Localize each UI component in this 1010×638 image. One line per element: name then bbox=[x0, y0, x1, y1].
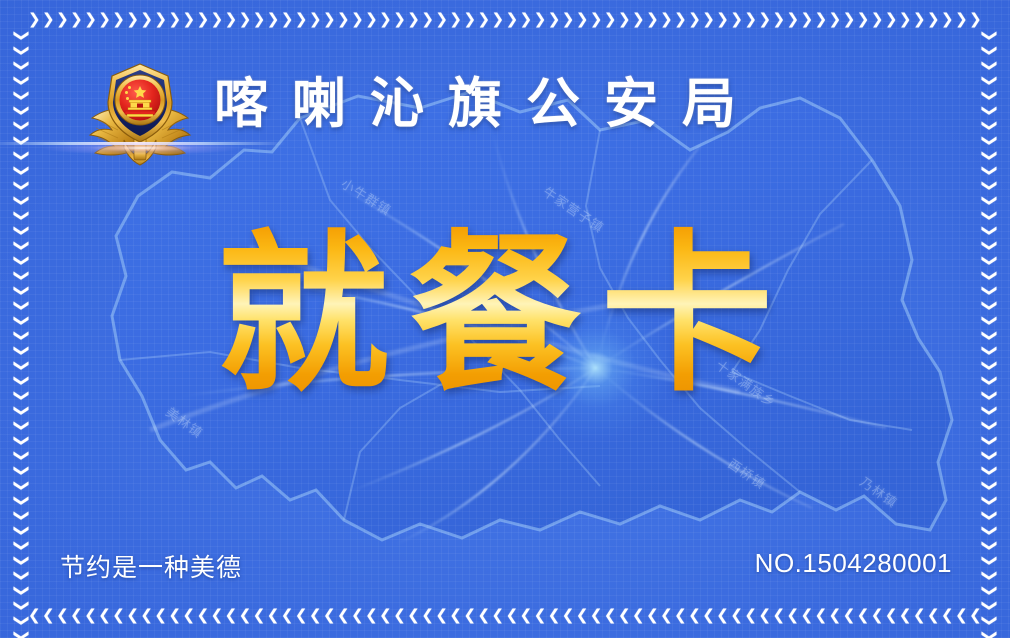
border-chevron-icon: ❯ bbox=[13, 104, 28, 117]
border-chevron-icon: ❯ bbox=[13, 194, 28, 207]
border-chevron-icon: ❮ bbox=[899, 608, 912, 623]
border-chevron-icon: ❯ bbox=[913, 12, 926, 27]
border-chevron-icon: ❮ bbox=[843, 608, 856, 623]
border-chevron-icon: ❮ bbox=[716, 608, 729, 623]
border-chevron-icon: ❯ bbox=[981, 464, 996, 477]
border-chevron-icon: ❯ bbox=[267, 12, 280, 27]
border-chevron-icon: ❯ bbox=[981, 584, 996, 597]
border-chevron-icon: ❯ bbox=[927, 12, 940, 27]
border-chevron-icon: ❯ bbox=[13, 59, 28, 72]
border-chevron-icon: ❮ bbox=[829, 608, 842, 623]
border-chevron-icon: ❯ bbox=[829, 12, 842, 27]
border-chevron-icon: ❯ bbox=[407, 12, 420, 27]
border-chevron-icon: ❯ bbox=[13, 119, 28, 132]
border-chevron-icon: ❯ bbox=[506, 12, 519, 27]
border-chevron-icon: ❮ bbox=[492, 608, 505, 623]
border-chevron-icon: ❮ bbox=[239, 608, 252, 623]
border-chevron-icon: ❯ bbox=[981, 59, 996, 72]
police-badge-icon bbox=[84, 56, 196, 168]
border-chevron-icon: ❯ bbox=[13, 614, 28, 627]
footer-slogan: 节约是一种美德 bbox=[60, 548, 242, 584]
border-chevron-icon: ❯ bbox=[590, 12, 603, 27]
border-chevron-icon: ❯ bbox=[239, 12, 252, 27]
border-chevron-icon: ❮ bbox=[281, 608, 294, 623]
border-chevron-icon: ❮ bbox=[478, 608, 491, 623]
border-chevron-icon: ❮ bbox=[758, 608, 771, 623]
border-chevron-icon: ❮ bbox=[562, 608, 575, 623]
border-chevron-icon: ❯ bbox=[981, 554, 996, 567]
border-chevron-icon: ❯ bbox=[13, 419, 28, 432]
border-chevron-icon: ❯ bbox=[42, 12, 55, 27]
border-chevron-icon: ❯ bbox=[13, 179, 28, 192]
border-chevron-icon: ❮ bbox=[576, 608, 589, 623]
border-chevron-icon: ❯ bbox=[281, 12, 294, 27]
border-chevron-icon: ❯ bbox=[435, 12, 448, 27]
border-chevron-icon: ❯ bbox=[463, 12, 476, 27]
border-chevron-icon: ❯ bbox=[981, 29, 996, 42]
border-chevron-icon: ❮ bbox=[56, 608, 69, 623]
border-chevron-icon: ❯ bbox=[716, 12, 729, 27]
border-chevron-icon: ❯ bbox=[13, 494, 28, 507]
border-chevron-icon: ❮ bbox=[295, 608, 308, 623]
border-chevron-icon: ❯ bbox=[981, 419, 996, 432]
border-chevron-icon: ❯ bbox=[857, 12, 870, 27]
border-chevron-icon: ❮ bbox=[112, 608, 125, 623]
border-chevron-icon: ❯ bbox=[955, 12, 968, 27]
border-chevron-icon: ❮ bbox=[688, 608, 701, 623]
border-chevron-icon: ❯ bbox=[981, 164, 996, 177]
border-chevron-icon: ❯ bbox=[702, 12, 715, 27]
border-chevron-icon: ❮ bbox=[927, 608, 940, 623]
border-chevron-icon: ❯ bbox=[211, 12, 224, 27]
border-chevron-icon: ❯ bbox=[744, 12, 757, 27]
border-chevron-icon: ❯ bbox=[981, 524, 996, 537]
border-chevron-icon: ❯ bbox=[28, 12, 41, 27]
border-chevron-icon: ❯ bbox=[13, 134, 28, 147]
border-chevron-icon: ❮ bbox=[253, 608, 266, 623]
border-chevron-icon: ❯ bbox=[197, 12, 210, 27]
border-chevron-icon: ❮ bbox=[323, 608, 336, 623]
border-chevron-icon: ❯ bbox=[981, 614, 996, 627]
border-chevron-icon: ❯ bbox=[562, 12, 575, 27]
border-chevron-icon: ❯ bbox=[981, 194, 996, 207]
border-chevron-icon: ❯ bbox=[295, 12, 308, 27]
border-chevron-icon: ❯ bbox=[871, 12, 884, 27]
border-chevron-icon: ❯ bbox=[13, 434, 28, 447]
border-chevron-icon: ❯ bbox=[478, 12, 491, 27]
border-chevron-icon: ❮ bbox=[801, 608, 814, 623]
border-chevron-icon: ❮ bbox=[702, 608, 715, 623]
border-chevron-icon: ❯ bbox=[981, 494, 996, 507]
border-chevron-icon: ❮ bbox=[632, 608, 645, 623]
border-chevron-icon: ❮ bbox=[435, 608, 448, 623]
border-chevron-icon: ❯ bbox=[660, 12, 673, 27]
page-title: 喀喇沁旗公安局 bbox=[214, 74, 760, 134]
border-chevron-icon: ❯ bbox=[941, 12, 954, 27]
border-chevron-icon: ❮ bbox=[168, 608, 181, 623]
border-chevron-icon: ❮ bbox=[197, 608, 210, 623]
border-chevron-icon: ❯ bbox=[365, 12, 378, 27]
border-chevron-icon: ❯ bbox=[981, 44, 996, 57]
border-chevron-icon: ❯ bbox=[13, 569, 28, 582]
border-chevron-icon: ❮ bbox=[98, 608, 111, 623]
card-type-title: 就餐卡 bbox=[0, 222, 1010, 408]
dining-card: 小牛群镇 牛家营子镇 十家满族乡 美林镇 西桥镇 乃林镇 ❯❯❯❯❯❯❯❯❯❯❯… bbox=[0, 0, 1010, 638]
border-chevron-icon: ❮ bbox=[534, 608, 547, 623]
border-chevron-icon: ❯ bbox=[815, 12, 828, 27]
border-chevron-icon: ❮ bbox=[618, 608, 631, 623]
border-chevron-icon: ❯ bbox=[98, 12, 111, 27]
border-chevron-icon: ❮ bbox=[730, 608, 743, 623]
border-chevron-icon: ❮ bbox=[857, 608, 870, 623]
border-chevron-icon: ❯ bbox=[449, 12, 462, 27]
border-chevron-icon: ❮ bbox=[154, 608, 167, 623]
border-chevron-icon: ❮ bbox=[913, 608, 926, 623]
border-chevron-icon: ❮ bbox=[70, 608, 83, 623]
border-chevron-icon: ❯ bbox=[225, 12, 238, 27]
border-chevron-icon: ❮ bbox=[815, 608, 828, 623]
border-chevron-icon: ❯ bbox=[772, 12, 785, 27]
border-chevron-icon: ❮ bbox=[520, 608, 533, 623]
border-chevron-icon: ❯ bbox=[309, 12, 322, 27]
border-chevron-icon: ❯ bbox=[126, 12, 139, 27]
border-chevron-icon: ❯ bbox=[13, 149, 28, 162]
border-chevron-icon: ❯ bbox=[534, 12, 547, 27]
border-chevron-icon: ❮ bbox=[267, 608, 280, 623]
border-chevron-icon: ❮ bbox=[646, 608, 659, 623]
border-chevron-icon: ❯ bbox=[981, 539, 996, 552]
border-chevron-icon: ❯ bbox=[981, 629, 996, 638]
border-chevron-icon: ❯ bbox=[674, 12, 687, 27]
border-chevron-icon: ❯ bbox=[253, 12, 266, 27]
border-top: ❯❯❯❯❯❯❯❯❯❯❯❯❯❯❯❯❯❯❯❯❯❯❯❯❯❯❯❯❯❯❯❯❯❯❯❯❯❯❯❯… bbox=[28, 12, 982, 27]
border-chevron-icon: ❯ bbox=[981, 479, 996, 492]
border-chevron-icon: ❮ bbox=[660, 608, 673, 623]
border-chevron-icon: ❯ bbox=[843, 12, 856, 27]
border-chevron-icon: ❯ bbox=[730, 12, 743, 27]
border-chevron-icon: ❯ bbox=[492, 12, 505, 27]
border-chevron-icon: ❯ bbox=[981, 449, 996, 462]
border-chevron-icon: ❯ bbox=[13, 209, 28, 222]
border-chevron-icon: ❯ bbox=[688, 12, 701, 27]
border-chevron-icon: ❯ bbox=[154, 12, 167, 27]
border-chevron-icon: ❮ bbox=[449, 608, 462, 623]
border-chevron-icon: ❯ bbox=[70, 12, 83, 27]
badge-national-emblem bbox=[115, 75, 165, 125]
police-badge-svg bbox=[84, 56, 196, 168]
border-chevron-icon: ❯ bbox=[337, 12, 350, 27]
border-chevron-icon: ❮ bbox=[351, 608, 364, 623]
border-chevron-icon: ❯ bbox=[969, 12, 982, 27]
border-chevron-icon: ❮ bbox=[674, 608, 687, 623]
border-chevron-icon: ❯ bbox=[618, 12, 631, 27]
border-chevron-icon: ❯ bbox=[981, 134, 996, 147]
border-chevron-icon: ❮ bbox=[183, 608, 196, 623]
border-chevron-icon: ❮ bbox=[421, 608, 434, 623]
border-chevron-icon: ❯ bbox=[13, 629, 28, 638]
border-chevron-icon: ❯ bbox=[981, 569, 996, 582]
border-chevron-icon: ❮ bbox=[604, 608, 617, 623]
border-chevron-icon: ❯ bbox=[548, 12, 561, 27]
border-chevron-icon: ❯ bbox=[981, 119, 996, 132]
border-chevron-icon: ❮ bbox=[548, 608, 561, 623]
border-chevron-icon: ❯ bbox=[13, 464, 28, 477]
border-chevron-icon: ❯ bbox=[13, 449, 28, 462]
border-chevron-icon: ❯ bbox=[885, 12, 898, 27]
border-chevron-icon: ❮ bbox=[885, 608, 898, 623]
border-chevron-icon: ❯ bbox=[13, 74, 28, 87]
border-chevron-icon: ❯ bbox=[981, 179, 996, 192]
border-chevron-icon: ❯ bbox=[393, 12, 406, 27]
border-chevron-icon: ❯ bbox=[13, 539, 28, 552]
border-chevron-icon: ❯ bbox=[758, 12, 771, 27]
border-chevron-icon: ❯ bbox=[981, 149, 996, 162]
border-chevron-icon: ❯ bbox=[646, 12, 659, 27]
border-chevron-icon: ❯ bbox=[379, 12, 392, 27]
border-chevron-icon: ❯ bbox=[421, 12, 434, 27]
border-chevron-icon: ❯ bbox=[13, 479, 28, 492]
border-chevron-icon: ❯ bbox=[632, 12, 645, 27]
border-chevron-icon: ❯ bbox=[168, 12, 181, 27]
border-chevron-icon: ❯ bbox=[13, 89, 28, 102]
border-chevron-icon: ❮ bbox=[463, 608, 476, 623]
border-chevron-icon: ❯ bbox=[84, 12, 97, 27]
border-chevron-icon: ❮ bbox=[42, 608, 55, 623]
badge-gate bbox=[128, 100, 152, 110]
border-chevron-icon: ❯ bbox=[351, 12, 364, 27]
border-chevron-icon: ❯ bbox=[56, 12, 69, 27]
border-chevron-icon: ❮ bbox=[787, 608, 800, 623]
border-chevron-icon: ❮ bbox=[772, 608, 785, 623]
border-chevron-icon: ❮ bbox=[211, 608, 224, 623]
border-chevron-icon: ❯ bbox=[183, 12, 196, 27]
border-chevron-icon: ❯ bbox=[576, 12, 589, 27]
border-chevron-icon: ❯ bbox=[13, 584, 28, 597]
border-chevron-icon: ❮ bbox=[744, 608, 757, 623]
border-chevron-icon: ❮ bbox=[393, 608, 406, 623]
border-chevron-icon: ❯ bbox=[13, 29, 28, 42]
border-chevron-icon: ❯ bbox=[981, 209, 996, 222]
border-chevron-icon: ❮ bbox=[337, 608, 350, 623]
border-chevron-icon: ❯ bbox=[981, 599, 996, 612]
border-chevron-icon: ❯ bbox=[140, 12, 153, 27]
border-chevron-icon: ❯ bbox=[899, 12, 912, 27]
border-chevron-icon: ❯ bbox=[323, 12, 336, 27]
border-chevron-icon: ❯ bbox=[13, 509, 28, 522]
border-chevron-icon: ❮ bbox=[407, 608, 420, 623]
border-chevron-icon: ❮ bbox=[955, 608, 968, 623]
border-bottom: ❮❮❮❮❮❮❮❮❮❮❮❮❮❮❮❮❮❮❮❮❮❮❮❮❮❮❮❮❮❮❮❮❮❮❮❮❮❮❮❮… bbox=[28, 608, 982, 623]
border-chevron-icon: ❮ bbox=[379, 608, 392, 623]
border-chevron-icon: ❯ bbox=[981, 509, 996, 522]
border-chevron-icon: ❯ bbox=[981, 434, 996, 447]
border-chevron-icon: ❯ bbox=[13, 44, 28, 57]
border-chevron-icon: ❮ bbox=[309, 608, 322, 623]
border-chevron-icon: ❮ bbox=[506, 608, 519, 623]
border-chevron-icon: ❮ bbox=[225, 608, 238, 623]
border-chevron-icon: ❯ bbox=[13, 164, 28, 177]
border-chevron-icon: ❮ bbox=[140, 608, 153, 623]
border-chevron-icon: ❯ bbox=[981, 89, 996, 102]
border-chevron-icon: ❯ bbox=[520, 12, 533, 27]
border-chevron-icon: ❮ bbox=[365, 608, 378, 623]
border-chevron-icon: ❮ bbox=[871, 608, 884, 623]
border-chevron-icon: ❯ bbox=[787, 12, 800, 27]
border-chevron-icon: ❯ bbox=[981, 104, 996, 117]
border-chevron-icon: ❯ bbox=[604, 12, 617, 27]
border-chevron-icon: ❯ bbox=[981, 74, 996, 87]
border-chevron-icon: ❮ bbox=[126, 608, 139, 623]
border-chevron-icon: ❯ bbox=[13, 524, 28, 537]
border-chevron-icon: ❯ bbox=[13, 554, 28, 567]
border-chevron-icon: ❯ bbox=[112, 12, 125, 27]
border-chevron-icon: ❯ bbox=[13, 599, 28, 612]
border-chevron-icon: ❮ bbox=[590, 608, 603, 623]
border-chevron-icon: ❯ bbox=[801, 12, 814, 27]
border-chevron-icon: ❮ bbox=[941, 608, 954, 623]
border-chevron-icon: ❮ bbox=[84, 608, 97, 623]
serial-number: NO.1504280001 bbox=[755, 548, 952, 579]
